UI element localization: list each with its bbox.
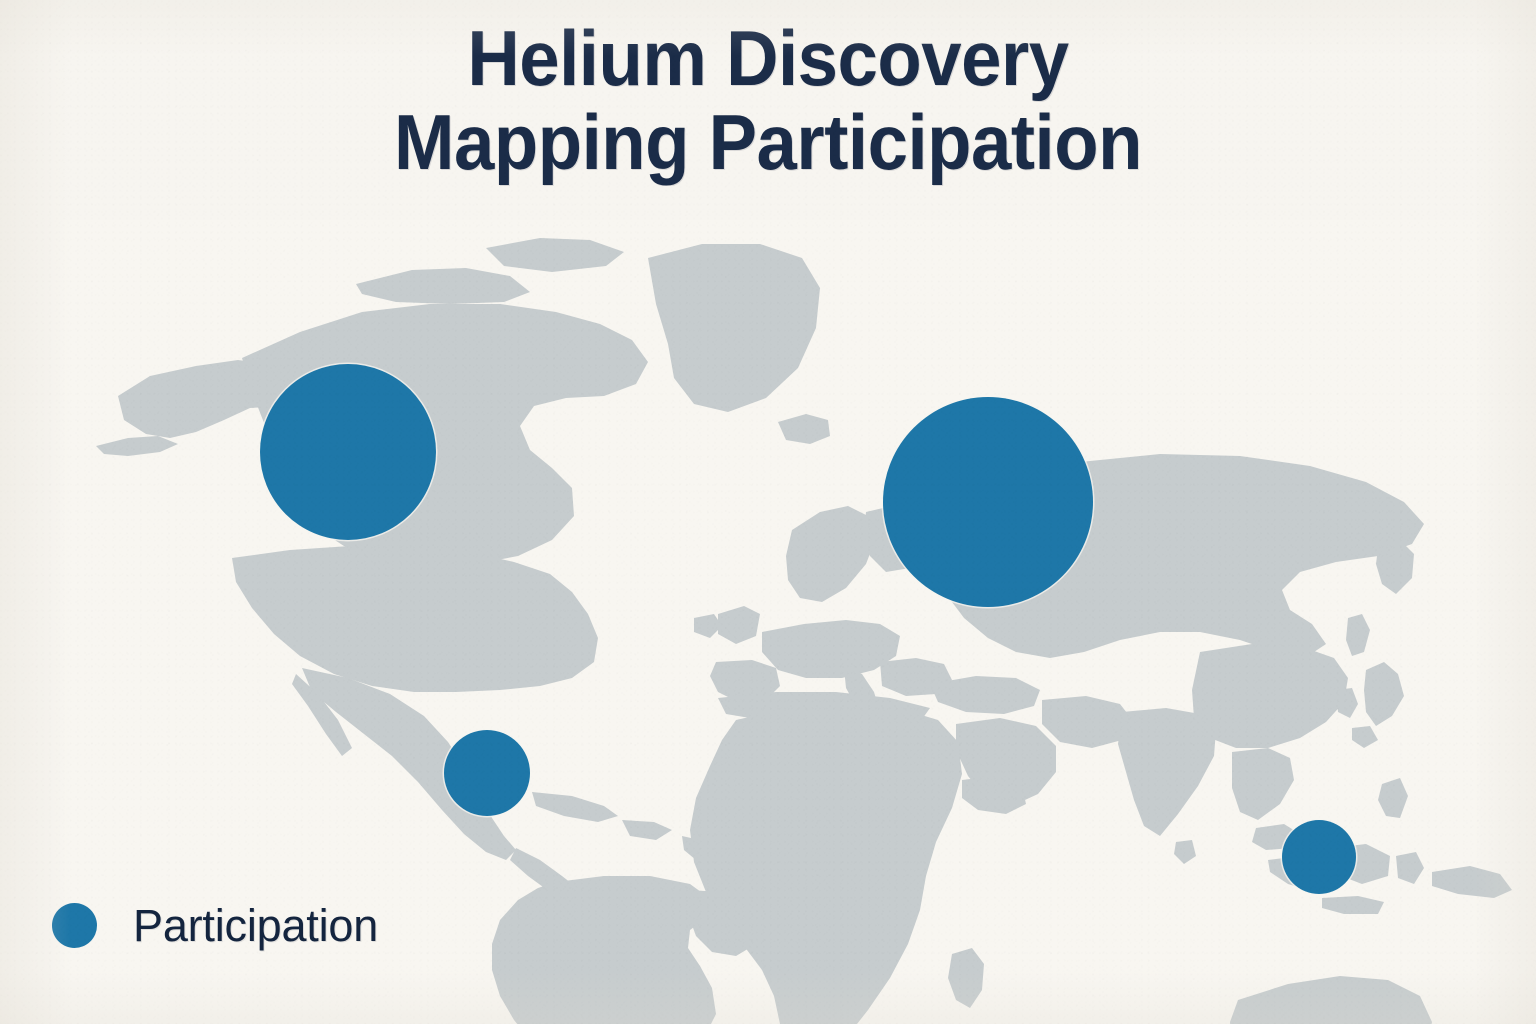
title-line-1: Helium Discovery [54,16,1482,100]
map-bubble-north-america[interactable] [260,364,436,540]
map-legend: Participation [52,903,378,948]
legend-marker-circle-icon [52,903,97,948]
map-bubble-australia[interactable] [1282,820,1356,894]
land-south-america [492,876,716,1024]
page-title: Helium Discovery Mapping Participation [0,16,1536,184]
map-bubble-europe-middle-east[interactable] [883,397,1093,607]
legend-label-participation: Participation [133,903,378,948]
title-line-2: Mapping Participation [54,100,1482,184]
map-bubble-south-america[interactable] [444,730,530,816]
bubble-map-figure: Helium Discovery Mapping Participation [0,0,1536,1024]
